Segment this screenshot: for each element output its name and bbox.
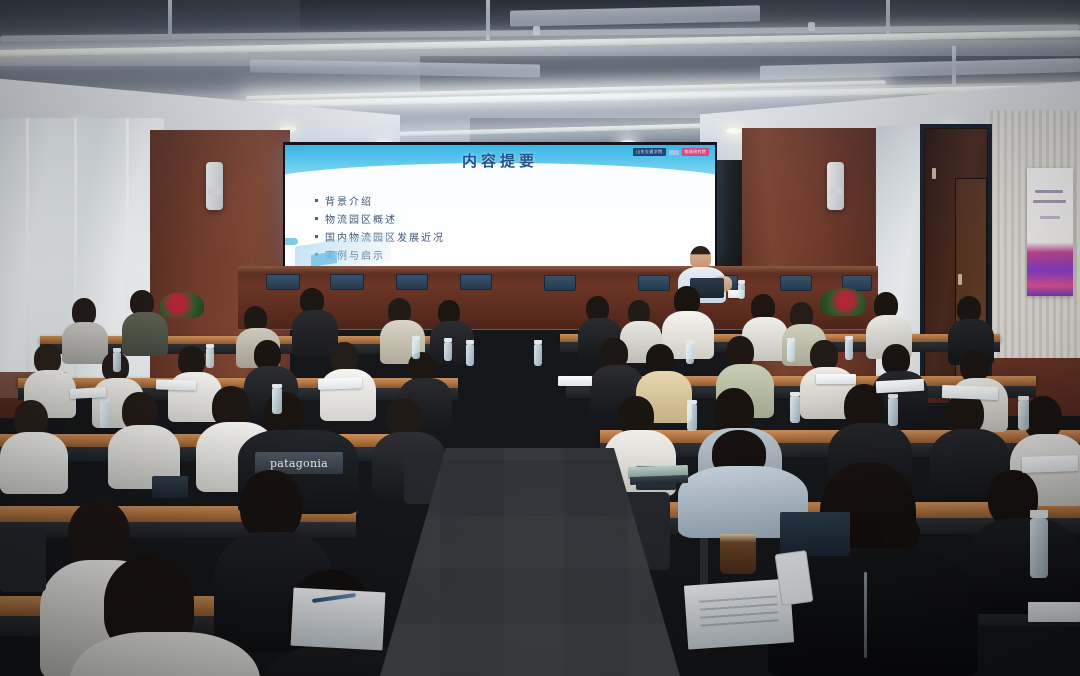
water-bottle bbox=[790, 396, 800, 423]
water-bottle bbox=[888, 398, 898, 426]
notebook-text-lines bbox=[699, 595, 779, 630]
list-item: 背景介绍 bbox=[315, 193, 445, 208]
water-bottle bbox=[1030, 518, 1048, 578]
front-table-top bbox=[238, 266, 878, 273]
chair[interactable] bbox=[0, 528, 46, 592]
ceiling-hanger bbox=[168, 0, 172, 36]
conference-monitor bbox=[460, 274, 492, 290]
water-bottle bbox=[738, 284, 745, 299]
handout-paper bbox=[156, 379, 196, 390]
conference-monitor bbox=[266, 274, 300, 290]
attendee-torso bbox=[122, 312, 168, 356]
water-bottle bbox=[686, 344, 694, 364]
sprinkler-head bbox=[808, 22, 815, 31]
water-bottle bbox=[845, 340, 853, 360]
conference-room-photo: 内容提要 山东交通学院 物流研究院 背景介绍 物流园区概述 国内物流园区发展近况 bbox=[0, 0, 1080, 676]
attendee-laptop[interactable] bbox=[780, 512, 850, 556]
water-bottle bbox=[272, 388, 282, 414]
ceiling-downlight bbox=[726, 128, 742, 134]
attendee-laptop[interactable] bbox=[152, 476, 188, 498]
water-bottle bbox=[534, 344, 542, 366]
ceiling-hanger bbox=[886, 0, 890, 34]
water-bottle bbox=[1018, 400, 1029, 430]
bullet-dot-icon bbox=[315, 217, 318, 220]
attendee-torso bbox=[968, 518, 1080, 614]
ceiling-hanger bbox=[952, 46, 956, 90]
slide-watermark: 山东交通学院 物流研究院 bbox=[633, 148, 709, 156]
wall-poster bbox=[1027, 168, 1073, 296]
handout-paper bbox=[70, 387, 106, 399]
handout-paper bbox=[876, 379, 925, 393]
water-bottle bbox=[466, 344, 474, 366]
water-bottle bbox=[787, 342, 795, 362]
attendee-torso bbox=[0, 432, 68, 494]
flower-arrangement-left bbox=[160, 292, 204, 318]
attendee-hair-bun bbox=[880, 514, 920, 552]
conference-monitor bbox=[396, 274, 428, 290]
conference-monitor bbox=[638, 275, 670, 291]
flower-arrangement-right bbox=[820, 288, 866, 316]
wall-speaker-right bbox=[827, 162, 844, 210]
door-handle[interactable] bbox=[958, 274, 962, 285]
handout-paper bbox=[816, 374, 856, 384]
conference-monitor bbox=[544, 275, 576, 291]
ceiling-hanger bbox=[486, 0, 490, 40]
handout-paper bbox=[1022, 455, 1079, 473]
handout-paper bbox=[318, 377, 362, 390]
handout-paper bbox=[1028, 602, 1080, 622]
list-item: 物流园区概述 bbox=[315, 211, 445, 226]
sprinkler-head bbox=[533, 26, 540, 35]
handout-paper bbox=[558, 376, 592, 386]
bullet-dot-icon bbox=[315, 199, 318, 202]
water-bottle bbox=[412, 340, 420, 359]
patagonia-text: patagonia bbox=[270, 457, 328, 470]
bullet-dot-icon bbox=[315, 235, 318, 238]
water-bottle bbox=[113, 352, 121, 372]
projection-screen: 内容提要 山东交通学院 物流研究院 背景介绍 物流园区概述 国内物流园区发展近况 bbox=[283, 142, 717, 270]
water-bottle bbox=[687, 404, 697, 431]
necklace bbox=[864, 572, 867, 658]
coffee-cup bbox=[720, 534, 756, 574]
slide-badge-unit: 物流研究院 bbox=[682, 148, 710, 156]
book-stack bbox=[630, 475, 688, 485]
attendee-head bbox=[240, 470, 302, 540]
slide-decoration-pill bbox=[285, 238, 298, 245]
water-bottle bbox=[100, 402, 110, 428]
door-handle[interactable] bbox=[932, 168, 936, 179]
attendee-torso bbox=[62, 322, 108, 364]
slide-badge-institution: 山东交通学院 bbox=[633, 148, 665, 156]
slide-surface: 内容提要 山东交通学院 物流研究院 背景介绍 物流园区概述 国内物流园区发展近况 bbox=[285, 145, 715, 267]
slide-badge-logo-icon bbox=[669, 150, 679, 155]
conference-monitor bbox=[780, 275, 812, 291]
slide-bullet-text: 背景介绍 bbox=[325, 193, 373, 208]
conference-monitor bbox=[330, 274, 364, 290]
water-bottle bbox=[444, 342, 452, 361]
water-bottle bbox=[206, 348, 214, 368]
wall-speaker-left bbox=[206, 162, 223, 210]
handout-paper bbox=[942, 385, 998, 400]
slide-bullet-text: 物流园区概述 bbox=[325, 211, 397, 226]
